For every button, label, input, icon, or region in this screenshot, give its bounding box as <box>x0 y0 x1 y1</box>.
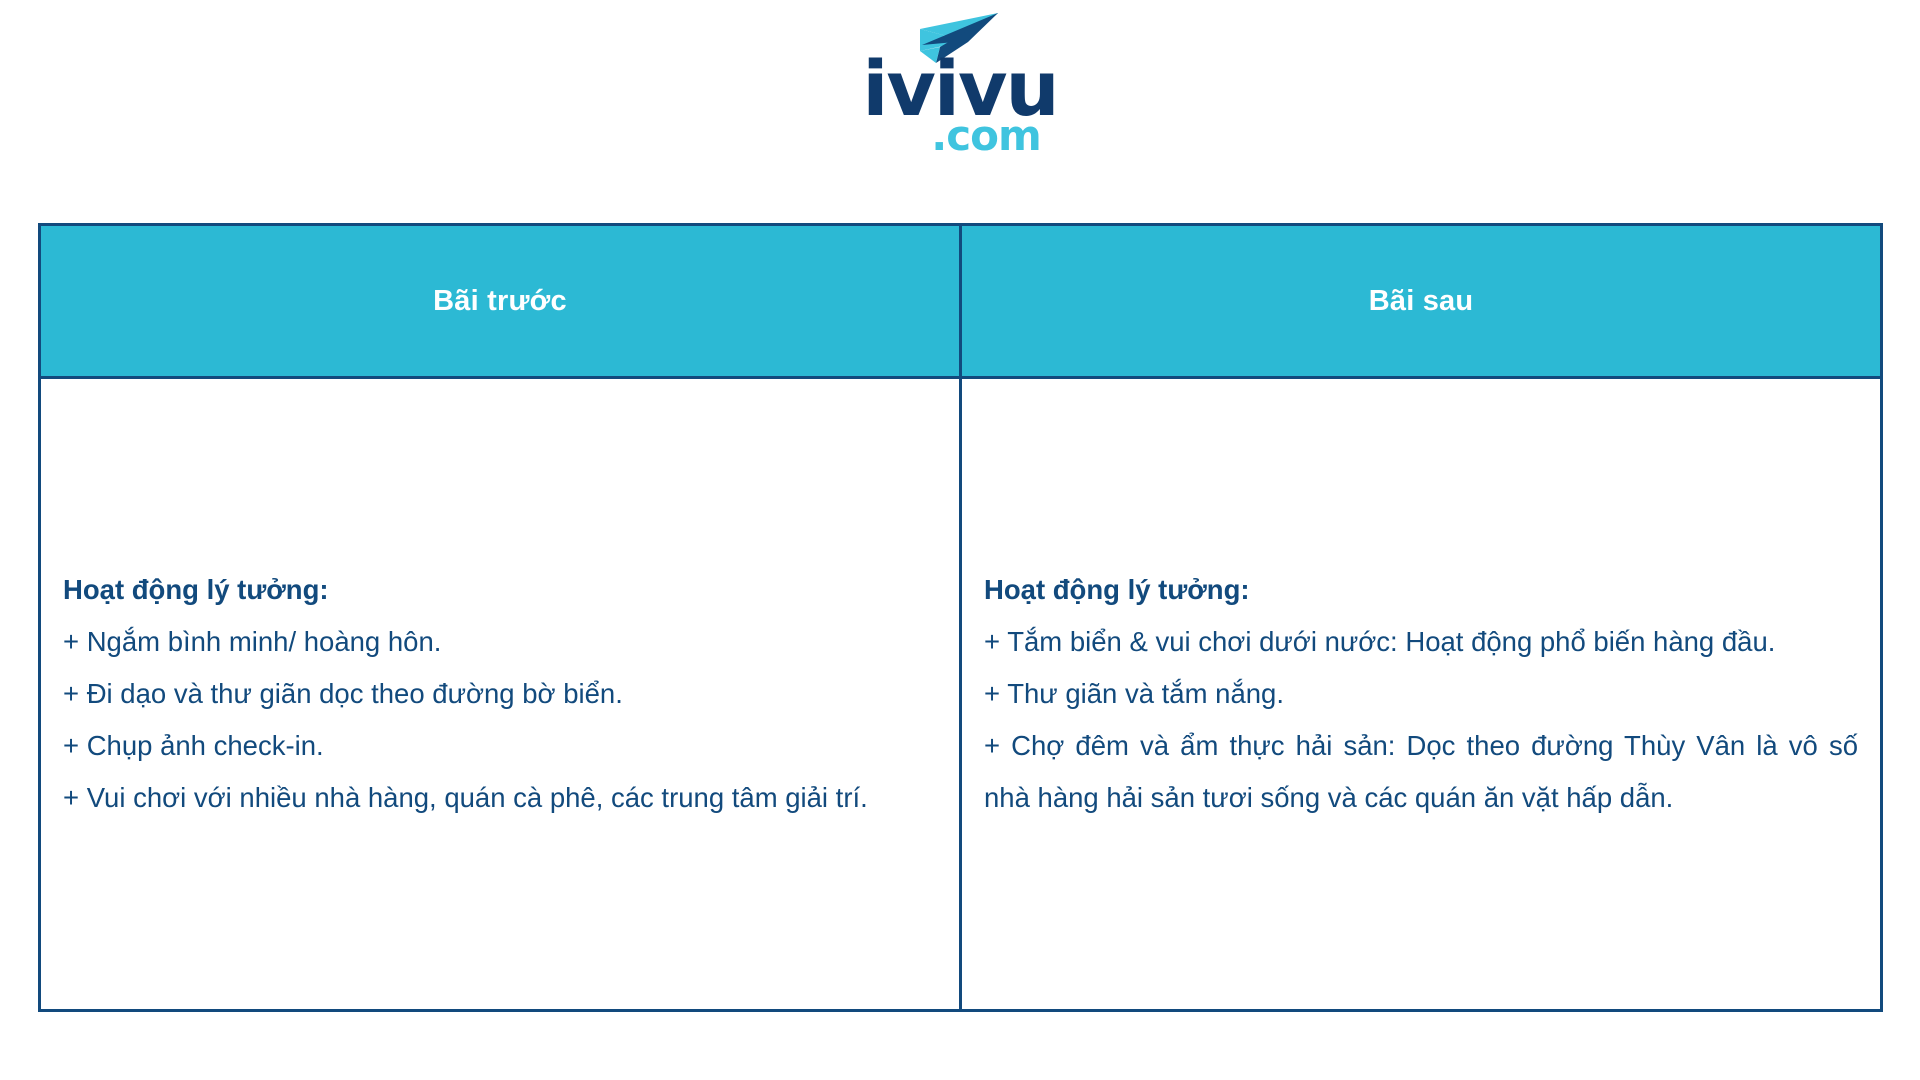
table-body: Hoạt động lý tưởng: + Ngắm bình minh/ ho… <box>40 378 1882 1011</box>
table-header-row: Bãi trước Bãi sau <box>40 225 1882 378</box>
bai-sau-item-3: + Chợ đêm và ẩm thực hải sản: Dọc theo đ… <box>984 720 1858 824</box>
bai-sau-content: Hoạt động lý tưởng: + Tắm biển & vui chơ… <box>962 554 1880 834</box>
comparison-table: Bãi trước Bãi sau Hoạt động lý tưởng: + … <box>38 223 1883 1012</box>
comparison-table-page: ivivu .com Bãi trước Bãi sau Hoạt động l… <box>0 0 1920 1080</box>
logo-domain-suffix: .com <box>844 115 1076 157</box>
bai-truoc-item-3: + Chụp ảnh check-in. <box>63 720 937 772</box>
comparison-table-wrapper: Bãi trước Bãi sau Hoạt động lý tưởng: + … <box>38 223 1883 1008</box>
site-logo: ivivu .com <box>0 8 1920 173</box>
logo-mark: ivivu .com <box>844 11 1076 171</box>
bai-truoc-content: Hoạt động lý tưởng: + Ngắm bình minh/ ho… <box>41 554 959 834</box>
table-row: Hoạt động lý tưởng: + Ngắm bình minh/ ho… <box>40 378 1882 1011</box>
bai-truoc-heading: Hoạt động lý tưởng: <box>63 564 937 616</box>
bai-sau-item-1: + Tắm biển & vui chơi dưới nước: Hoạt độ… <box>984 616 1858 668</box>
bai-truoc-item-1: + Ngắm bình minh/ hoàng hôn. <box>63 616 937 668</box>
bai-truoc-item-4: + Vui chơi với nhiều nhà hàng, quán cà p… <box>63 772 937 824</box>
bai-sau-item-2: + Thư giãn và tắm nắng. <box>984 668 1858 720</box>
table-head: Bãi trước Bãi sau <box>40 225 1882 378</box>
bai-sau-heading: Hoạt động lý tưởng: <box>984 564 1858 616</box>
column-header-bai-truoc: Bãi trước <box>40 225 961 378</box>
column-header-bai-sau: Bãi sau <box>961 225 1882 378</box>
cell-bai-truoc: Hoạt động lý tưởng: + Ngắm bình minh/ ho… <box>40 378 961 1011</box>
bai-truoc-item-2: + Đi dạo và thư giãn dọc theo đường bờ b… <box>63 668 937 720</box>
cell-bai-sau: Hoạt động lý tưởng: + Tắm biển & vui chơ… <box>961 378 1882 1011</box>
